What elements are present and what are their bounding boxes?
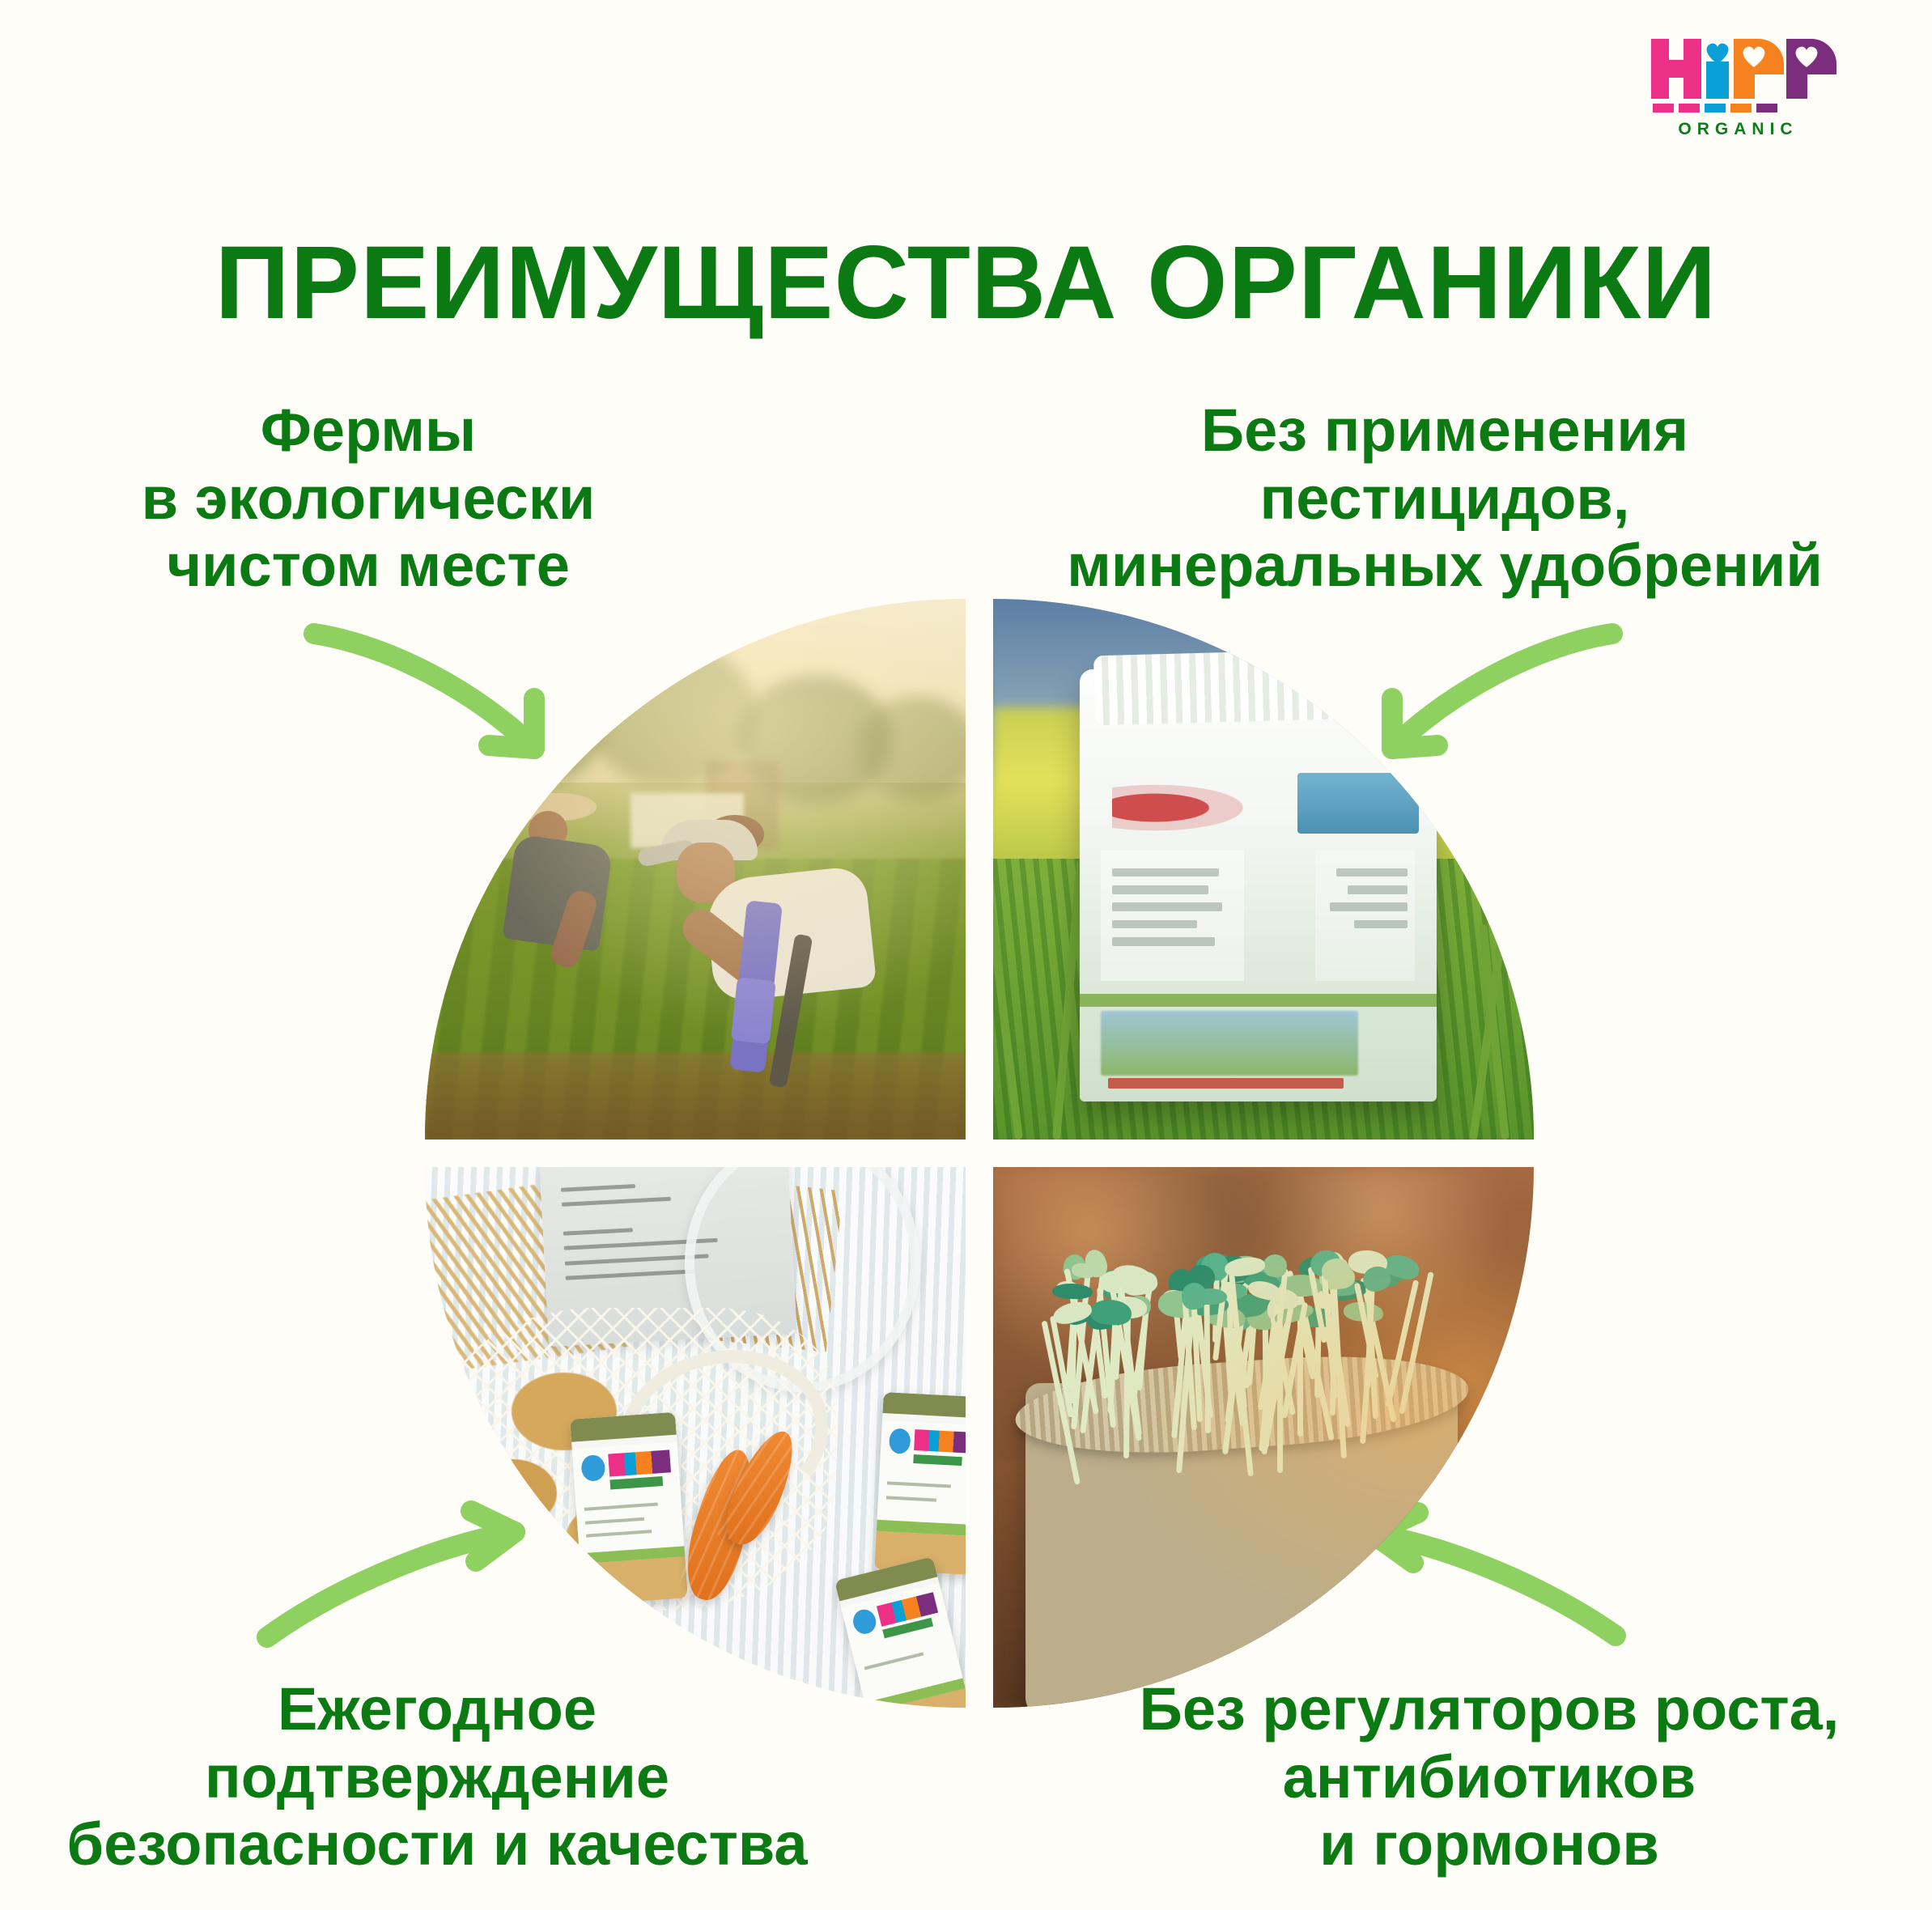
benefits-photo-circle [425, 599, 1534, 1708]
logo-color-bar [1653, 104, 1837, 112]
benefit-label-no-pesticides: Без применения пестицидов, минеральных у… [1008, 397, 1882, 600]
logo-tagline: ORGANIC [1651, 120, 1825, 139]
heart-icon [1793, 44, 1820, 68]
photo-microgreens-in-burlap-pot [993, 1167, 1534, 1708]
photo-organic-fertiliser-bag [993, 599, 1534, 1140]
heart-icon [1704, 40, 1731, 65]
logo-wordmark [1651, 39, 1837, 99]
logo-letter-h [1651, 39, 1701, 99]
logo-letter-i [1704, 39, 1731, 99]
benefit-label-eco-farms: Фермы в экологически чистом месте [49, 397, 688, 600]
logo-letter-p-purple [1786, 39, 1836, 99]
circle-gap-horizontal [425, 1140, 1534, 1167]
logo-letter-p-orange [1734, 39, 1784, 99]
photo-hipp-jars-and-certificate [425, 1167, 966, 1708]
hipp-organic-logo: ORGANIC [1651, 39, 1837, 136]
infographic-canvas: ORGANIC ПРЕИМУЩЕСТВА ОРГАНИКИ Фермы в эк… [0, 0, 1932, 1910]
heart-icon [1740, 44, 1768, 68]
hipp-jar [875, 1392, 966, 1575]
hipp-jar [834, 1556, 966, 1708]
page-title: ПРЕИМУЩЕСТВА ОРГАНИКИ [0, 231, 1932, 335]
photo-farmers-in-field [425, 599, 966, 1140]
hipp-jar [570, 1412, 688, 1606]
